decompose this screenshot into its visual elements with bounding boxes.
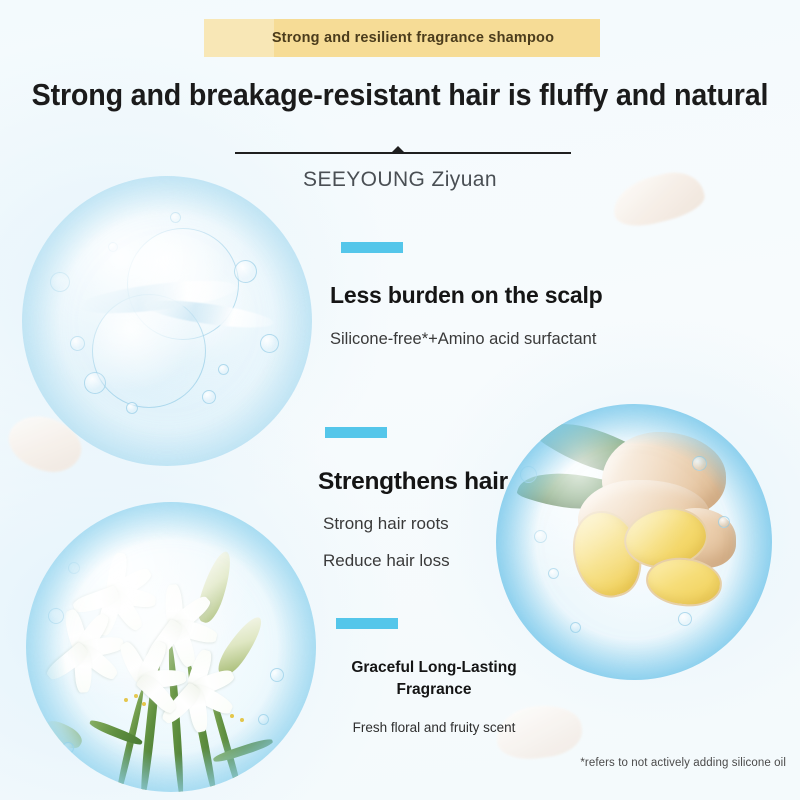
accent-bar-icon — [341, 242, 403, 253]
feature-line: Silicone-free*+Amino acid surfactant — [330, 330, 660, 349]
footnote: *refers to not actively adding silicone … — [580, 757, 786, 769]
feature-block-fragrance: Graceful Long-Lasting Fragrance Fresh fl… — [334, 618, 534, 735]
divider — [235, 152, 571, 154]
feature-title: Strengthens hair — [318, 468, 648, 496]
water-bubble-image — [22, 176, 312, 466]
caret-up-icon — [391, 146, 405, 153]
promo-banner: Strong and resilient fragrance shampoo — [204, 19, 600, 57]
lily-flower-bubble-image — [26, 502, 316, 792]
water-bubble-rim — [22, 176, 312, 466]
feature-title: Graceful Long-Lasting Fragrance — [334, 657, 534, 702]
feature-block-strength: Strengthens hair Strong hair roots Reduc… — [318, 427, 648, 571]
accent-bar-icon — [325, 427, 387, 438]
feature-line: Strong hair roots — [323, 514, 648, 534]
flower-bubble-rim — [26, 502, 316, 792]
page-title: Strong and breakage-resistant hair is fl… — [24, 78, 776, 113]
brand-name: SEEYOUNG Ziyuan — [0, 168, 800, 192]
product-feature-poster: Strong and resilient fragrance shampoo S… — [0, 0, 800, 800]
feature-title: Less burden on the scalp — [330, 282, 660, 309]
banner-text: Strong and resilient fragrance shampoo — [204, 19, 600, 57]
feature-line: Fresh floral and fruity scent — [334, 720, 534, 735]
feature-block-scalp: Less burden on the scalp Silicone-free*+… — [330, 242, 660, 349]
feature-line: Reduce hair loss — [323, 551, 648, 571]
accent-bar-icon — [336, 618, 398, 629]
